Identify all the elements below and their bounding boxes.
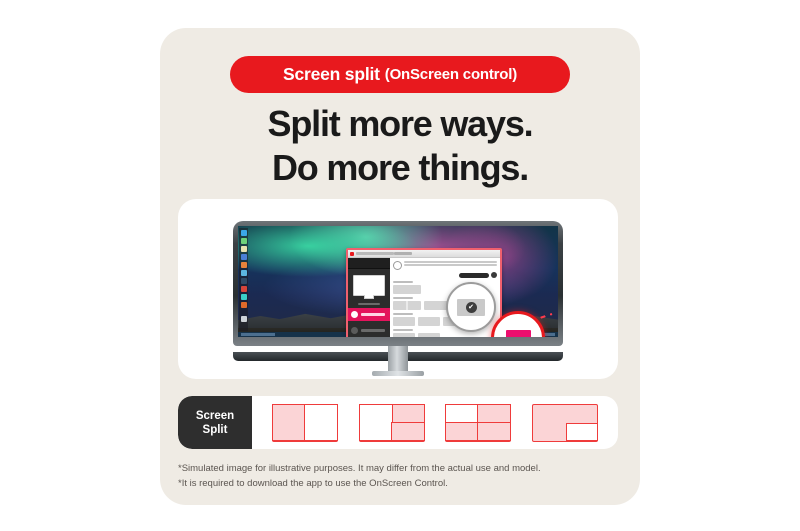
layout-option[interactable] — [393, 333, 415, 337]
dock-icon-5[interactable] — [241, 262, 247, 268]
section-heading — [393, 281, 413, 283]
headline-line-1: Split more ways. — [160, 102, 640, 146]
headline: Split more ways. Do more things. — [160, 102, 640, 190]
window-title-bar[interactable] — [348, 250, 500, 258]
layout-option[interactable] — [393, 317, 415, 326]
sidebar-header — [348, 258, 390, 269]
window-body: ✔ — [348, 258, 500, 337]
screen-split-bar: Screen Split — [178, 396, 618, 449]
feature-badge-main: Screen split — [283, 64, 380, 85]
split-cell — [445, 422, 479, 442]
dock-icon-3[interactable] — [241, 246, 247, 252]
taskbar-left-items — [241, 333, 275, 336]
monitor-screen: ✔ — [238, 226, 558, 337]
section-heading — [393, 329, 413, 331]
dock-icon-9[interactable] — [241, 294, 247, 300]
split-layout-4-quad[interactable] — [445, 404, 511, 442]
dock-icon-8[interactable] — [241, 286, 247, 292]
monitor-bezel: ✔ — [233, 221, 563, 346]
section-heading — [393, 313, 413, 315]
feature-badge-paren: (OnScreen control) — [385, 66, 517, 83]
layout-option[interactable] — [418, 317, 440, 326]
window-title-text — [356, 252, 394, 255]
pink-monitor-icon — [506, 330, 531, 338]
onscreen-control-window[interactable]: ✔ — [346, 248, 502, 337]
sidebar-item-picture-mode[interactable] — [348, 324, 390, 337]
check-icon: ✔ — [466, 302, 477, 313]
split-cell — [359, 404, 393, 442]
app-icon — [350, 252, 354, 256]
magnifier-selected-layout: ✔ — [446, 282, 496, 332]
info-note — [393, 261, 497, 270]
gear-icon — [393, 261, 402, 270]
layout-option[interactable] — [393, 285, 421, 294]
onscreen-control-pin — [491, 311, 539, 337]
monitor: ✔ — [233, 221, 563, 361]
preset-action-row[interactable] — [393, 272, 497, 278]
footnote-line-1: *Simulated image for illustrative purpos… — [178, 461, 628, 476]
monitor-stand-base — [372, 371, 424, 376]
dock-icon-2[interactable] — [241, 238, 247, 244]
preset-button[interactable] — [459, 273, 489, 278]
split-layout-3-left-stack[interactable] — [359, 404, 425, 442]
split-layout-2-vertical[interactable] — [272, 404, 338, 442]
section-4-screen-split — [393, 329, 497, 337]
layout-option[interactable] — [418, 333, 440, 337]
picture-mode-icon — [351, 327, 358, 334]
info-note-text — [404, 261, 497, 267]
app-content-pane: ✔ — [390, 258, 500, 337]
monitor-preview-icon — [353, 275, 385, 296]
app-sidebar[interactable] — [348, 258, 390, 337]
screen-split-tab-line-1: Screen — [196, 409, 234, 423]
split-layout-options — [252, 404, 618, 442]
screen-split-tab[interactable]: Screen Split — [178, 396, 252, 449]
screen-split-tab-line-2: Split — [203, 423, 228, 437]
sidebar-item-label — [361, 329, 385, 332]
magnified-layout-tile: ✔ — [457, 299, 485, 316]
page-root: Screen split (OnScreen control) Split mo… — [0, 0, 800, 531]
window-controls[interactable] — [394, 252, 412, 255]
desktop-dock[interactable] — [239, 228, 248, 331]
feature-badge: Screen split (OnScreen control) — [230, 56, 570, 93]
monitor-preview-label — [358, 303, 380, 305]
split-cell — [477, 404, 511, 424]
toggle-icon[interactable] — [491, 272, 497, 278]
dock-icon-7[interactable] — [241, 278, 247, 284]
split-cell — [391, 404, 425, 424]
split-layout-l-shape[interactable] — [532, 404, 598, 442]
section-heading — [393, 297, 413, 299]
product-image-card: ✔ — [178, 199, 618, 379]
split-cell — [391, 422, 425, 442]
pin-circle — [491, 311, 545, 337]
monitor-stand-neck — [388, 346, 408, 372]
split-cell — [304, 404, 338, 442]
sidebar-item-screen-split[interactable] — [348, 308, 390, 321]
layout-option[interactable] — [393, 301, 421, 310]
split-cell — [445, 404, 479, 424]
sidebar-item-label — [361, 313, 385, 316]
dock-icon-6[interactable] — [241, 270, 247, 276]
dock-icon-11[interactable] — [241, 316, 247, 322]
layout-row[interactable] — [393, 333, 497, 337]
dock-icon-1[interactable] — [241, 230, 247, 236]
headline-line-2: Do more things. — [160, 146, 640, 190]
footnotes: *Simulated image for illustrative purpos… — [178, 461, 628, 491]
screen-split-icon — [351, 311, 358, 318]
dock-icon-4[interactable] — [241, 254, 247, 260]
split-cell — [477, 422, 511, 442]
split-cell — [272, 404, 306, 442]
footnote-line-2: *It is required to download the app to u… — [178, 476, 628, 491]
dock-icon-10[interactable] — [241, 302, 247, 308]
split-cell — [566, 423, 598, 441]
